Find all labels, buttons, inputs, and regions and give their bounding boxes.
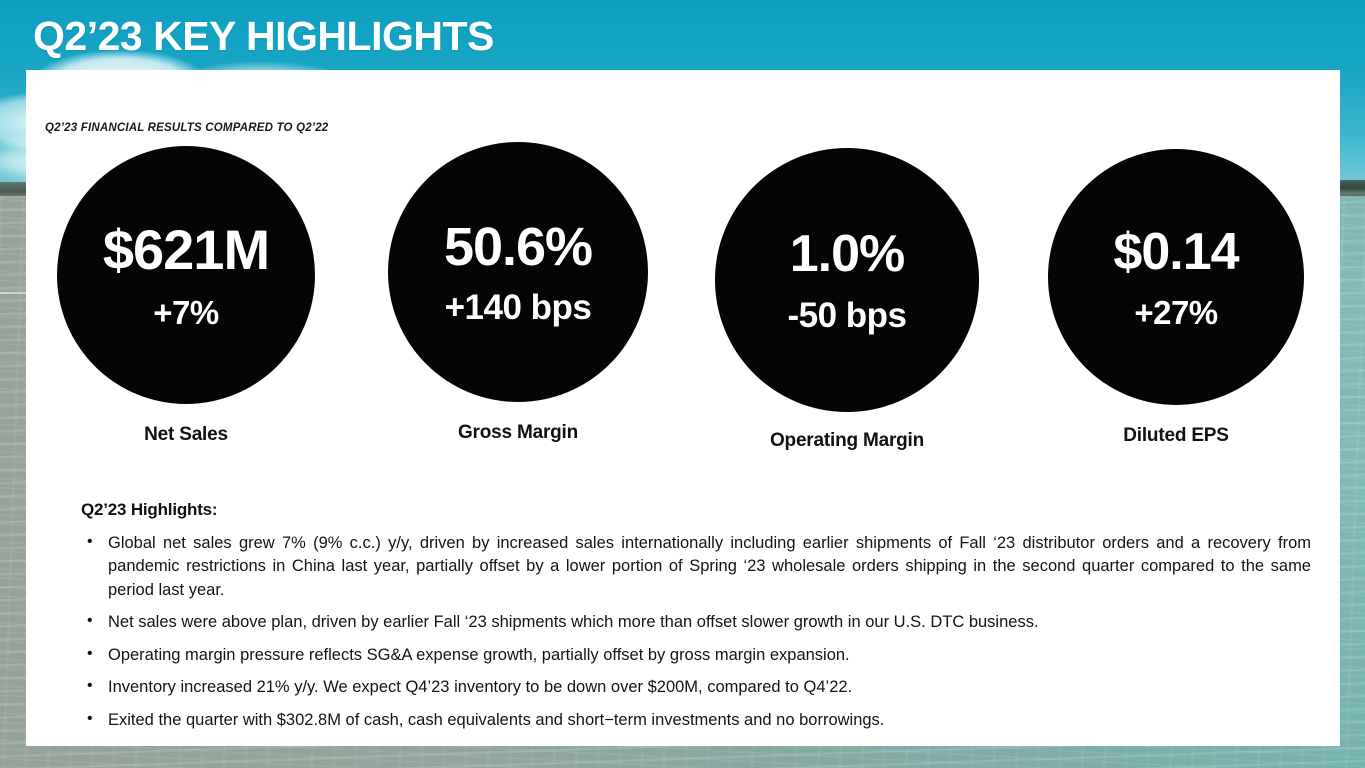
highlights-list: Global net sales grew 7% (9% c.c.) y/y, … xyxy=(81,532,1311,732)
page-title: Q2’23 KEY HIGHLIGHTS xyxy=(33,13,494,60)
kpi-circle: 1.0% -50 bps xyxy=(715,148,979,412)
kpi-delta: -50 bps xyxy=(787,298,906,333)
kpi-delta: +27% xyxy=(1134,296,1217,329)
kpi-circle: $0.14 +27% xyxy=(1048,149,1304,405)
kpi-row: $621M +7% Net Sales 50.6% +140 bps Gross… xyxy=(26,146,1340,436)
highlights-heading: Q2’23 Highlights: xyxy=(81,500,1311,520)
list-item: Operating margin pressure reflects SG&A … xyxy=(81,644,1311,667)
kpi-delta: +140 bps xyxy=(445,290,592,325)
card-kicker: Q2’23 FINANCIAL RESULTS COMPARED TO Q2’2… xyxy=(45,122,328,134)
kpi-value: $0.14 xyxy=(1113,226,1238,278)
kpi-value: $621M xyxy=(103,222,269,278)
kpi-circle: $621M +7% xyxy=(57,146,315,404)
kpi-diluted-eps: $0.14 +27% Diluted EPS xyxy=(1048,149,1304,447)
kpi-value: 1.0% xyxy=(790,228,905,280)
list-item: Inventory increased 21% y/y. We expect Q… xyxy=(81,676,1311,699)
kpi-operating-margin: 1.0% -50 bps Operating Margin xyxy=(715,148,979,452)
slide-root: Q2’23 KEY HIGHLIGHTS Q2’23 FINANCIAL RES… xyxy=(0,0,1365,768)
kpi-value: 50.6% xyxy=(444,220,592,274)
kpi-label: Operating Margin xyxy=(715,430,979,452)
list-item: Net sales were above plan, driven by ear… xyxy=(81,611,1311,634)
kpi-delta: +7% xyxy=(153,296,218,329)
kpi-net-sales: $621M +7% Net Sales xyxy=(57,146,315,446)
kpi-label: Diluted EPS xyxy=(1048,425,1304,447)
list-item: Exited the quarter with $302.8M of cash,… xyxy=(81,709,1311,732)
highlights-section: Q2’23 Highlights: Global net sales grew … xyxy=(81,500,1311,732)
content-card: Q2’23 FINANCIAL RESULTS COMPARED TO Q2’2… xyxy=(26,70,1340,746)
kpi-circle: 50.6% +140 bps xyxy=(388,142,648,402)
kpi-gross-margin: 50.6% +140 bps Gross Margin xyxy=(388,142,648,444)
kpi-label: Gross Margin xyxy=(388,422,648,444)
list-item: Global net sales grew 7% (9% c.c.) y/y, … xyxy=(81,532,1311,602)
kpi-label: Net Sales xyxy=(57,424,315,446)
